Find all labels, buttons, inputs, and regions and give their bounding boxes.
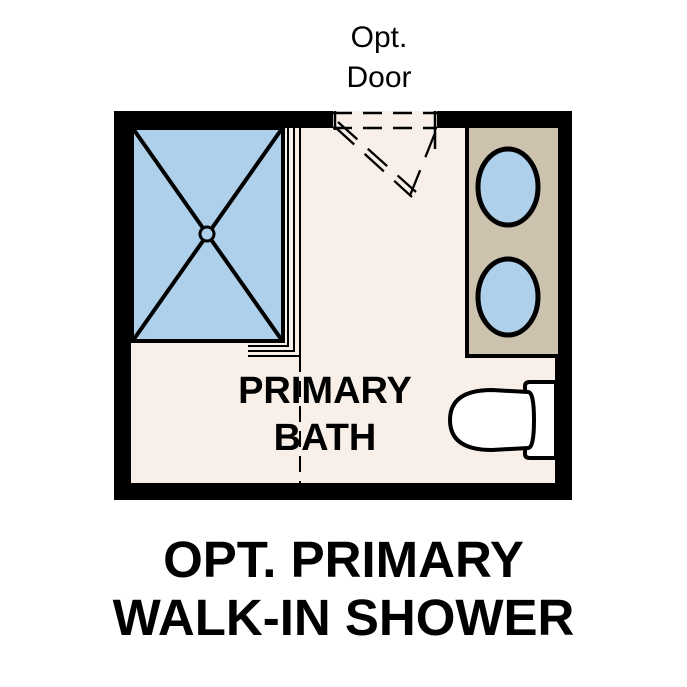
sink-basin-lower xyxy=(478,259,538,335)
sink-basin-upper xyxy=(478,149,538,225)
optional-door-label: Opt. Door xyxy=(289,18,469,98)
wall-left xyxy=(114,111,131,500)
walk-in-shower xyxy=(132,111,300,356)
wall-bottom xyxy=(114,483,572,500)
shower-drain-icon xyxy=(200,227,214,241)
double-vanity xyxy=(467,126,560,356)
floor-plan-diagram: Opt. Door PRIMARY BATH OPT. PRIMARY WALK… xyxy=(0,0,687,687)
room-name-label: PRIMARY BATH xyxy=(175,368,475,462)
plan-caption: OPT. PRIMARY WALK-IN SHOWER xyxy=(0,531,687,647)
